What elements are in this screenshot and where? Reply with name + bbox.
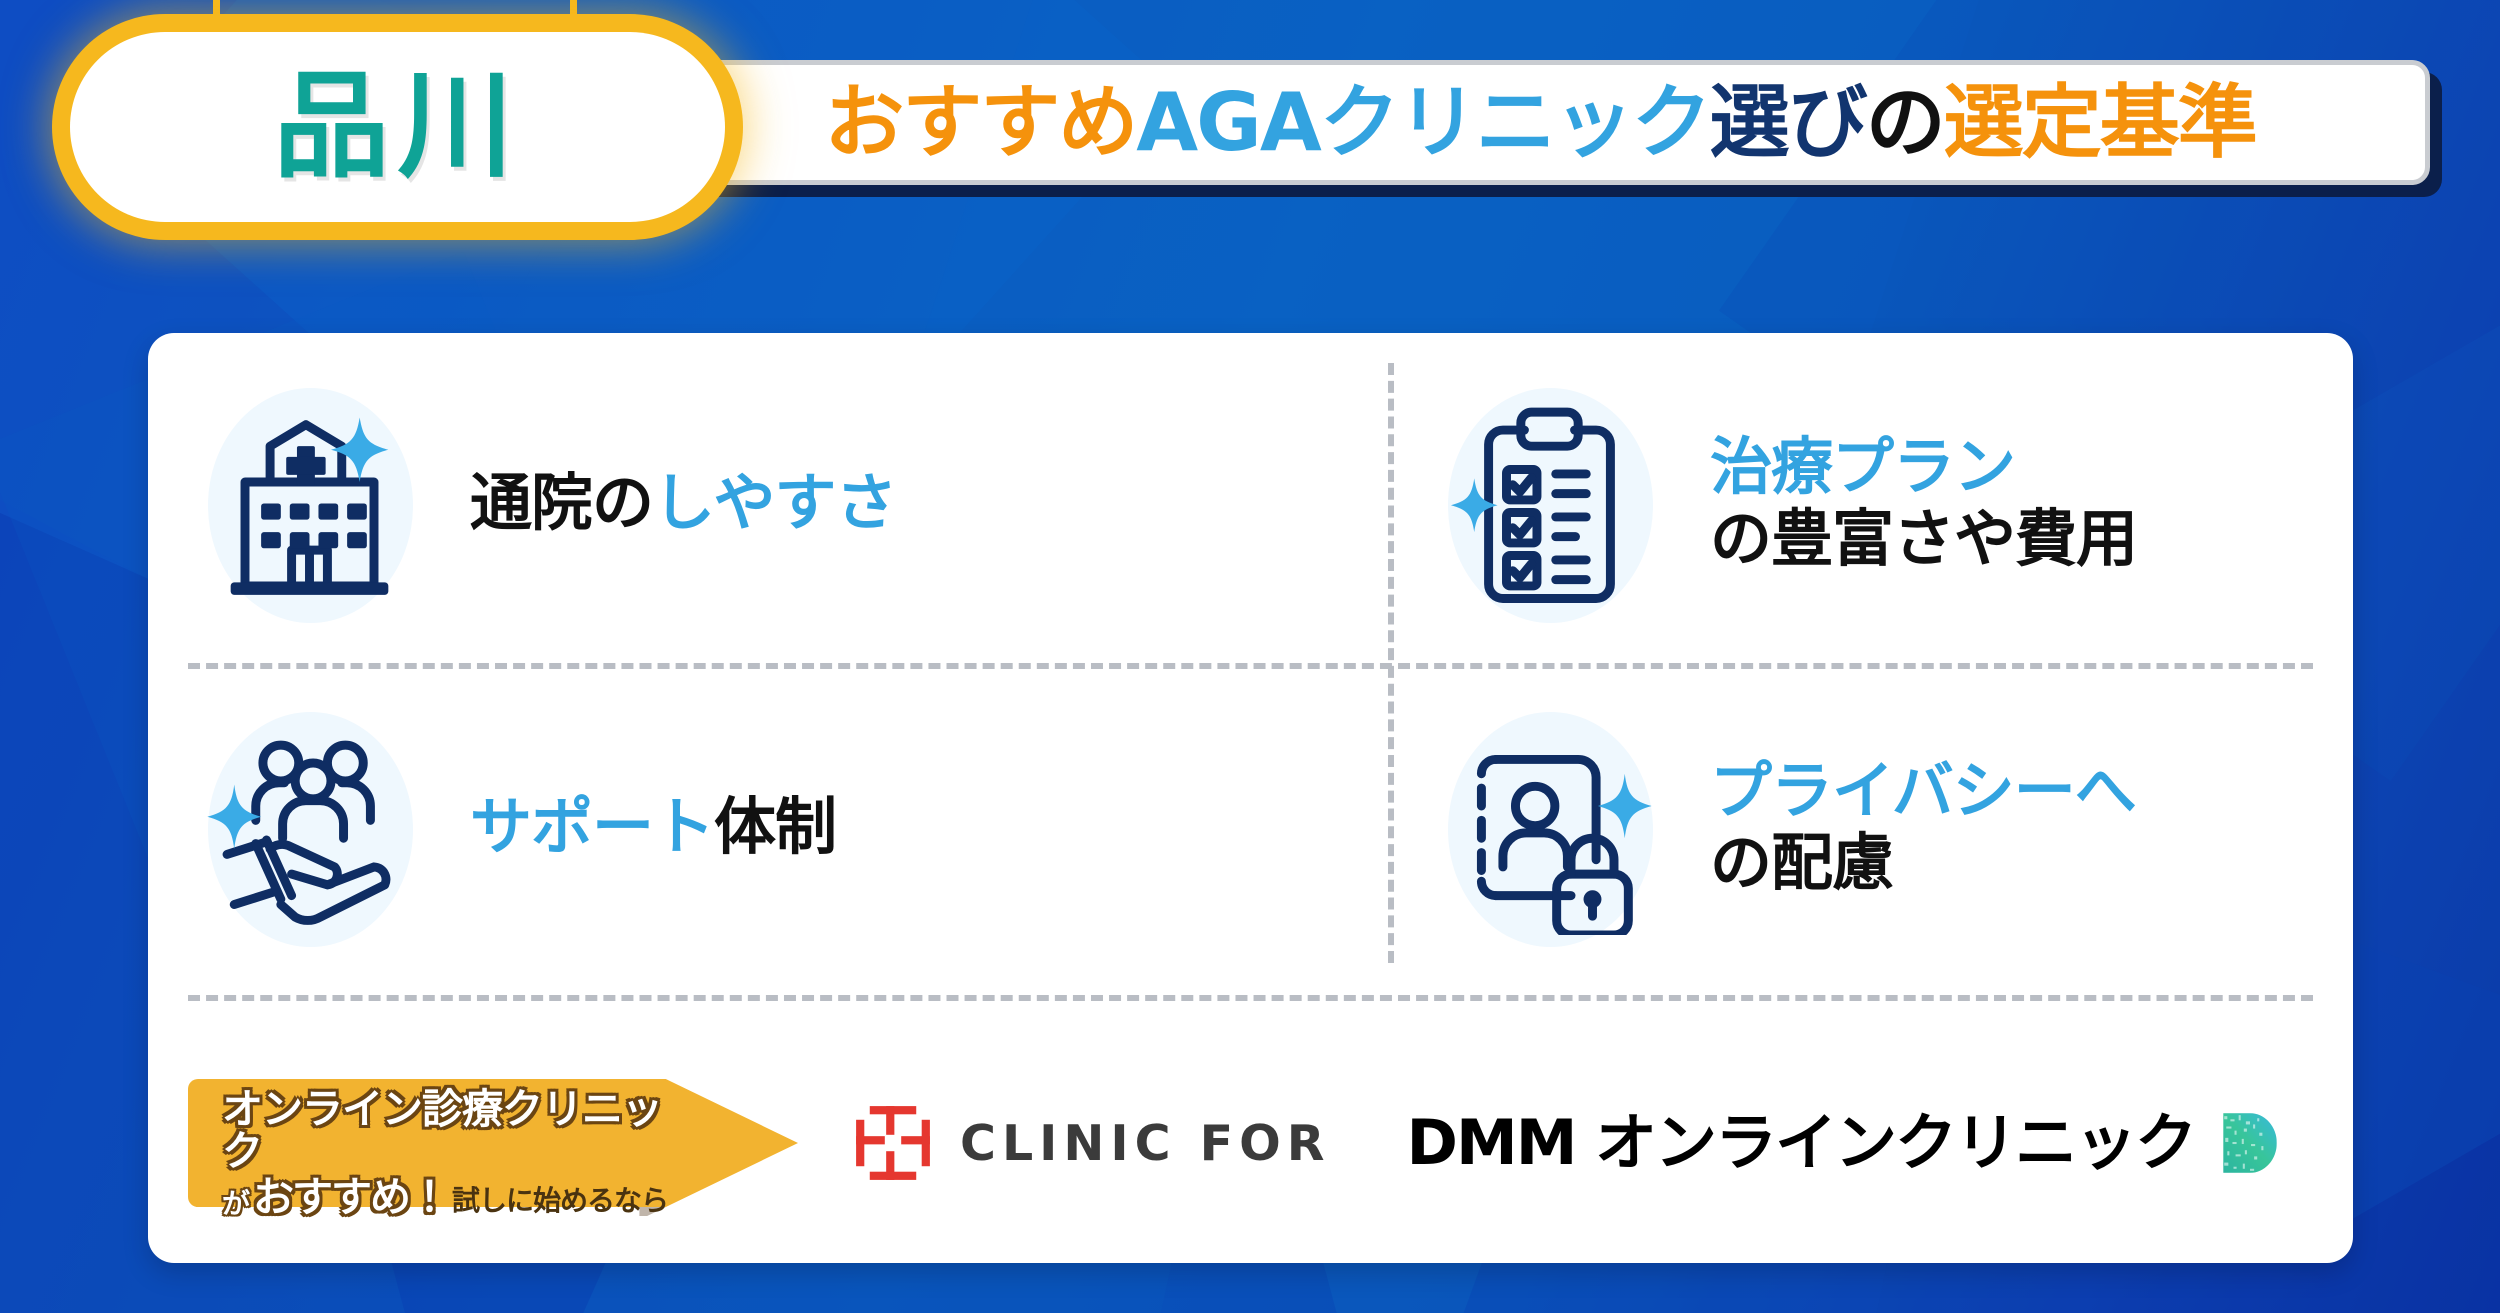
title-segment-kijun: 選定基準 <box>1944 76 2256 169</box>
logo-clinic-for[interactable]: CLINIC FOR <box>852 1102 1331 1184</box>
criteria-label-highlight: しやすさ <box>653 466 896 539</box>
logo-dmm-online-clinic[interactable]: DMM オンラインクリニック <box>1407 1110 2281 1176</box>
privacy-lock-icon <box>1442 720 1657 935</box>
red-cross-mark <box>852 1102 934 1184</box>
banner-line1: オンライン診療クリニック <box>222 1089 668 1173</box>
logo-clinic-for-wordmark: CLINIC FOR <box>960 1119 1331 1168</box>
criteria-item-privacy: プライバシーへの配慮 <box>1406 667 2500 987</box>
criteria-icon-wrap <box>184 378 434 628</box>
criteria-item-visit-ease: 通院のしやすさ <box>166 343 1376 663</box>
header: おすすめAGAクリニック選びの選定基準 品川 <box>0 0 2500 270</box>
clinic-logos: CLINIC FOR DMM オンラインクリニック <box>852 1102 2281 1184</box>
criteria-label-highlight: サポート <box>470 790 714 863</box>
criteria-item-support: サポート体制 <box>166 667 1376 987</box>
clipboard-checklist-icon <box>1442 396 1657 611</box>
logo-dmm-wordmark: DMM オンラインクリニック <box>1407 1112 2195 1174</box>
criteria-label-suffix: 体制 <box>714 790 836 863</box>
criteria-label-prefix: 通院の <box>470 466 653 539</box>
footer: オンライン診療クリニック が おすすめ！ 試しに始めるなら <box>148 1023 2353 1263</box>
banner-particle: が <box>222 1190 249 1219</box>
title-segment-osusume: おすすめ <box>824 76 1136 169</box>
criteria-icon-wrap <box>1424 702 1674 952</box>
title-segment-aga-clinic: AGAクリニック <box>1136 76 1710 169</box>
criteria-label-suffix: の配慮 <box>1710 826 1893 899</box>
criteria-label: 通院のしやすさ <box>470 467 896 539</box>
banner-subtext: 試しに始めるなら <box>452 1187 668 1219</box>
banner-text: オンライン診療クリニック が おすすめ！ 試しに始めるなら <box>222 1089 668 1218</box>
online-clinic-recommend-banner: オンライン診療クリニック が おすすめ！ 試しに始めるなら <box>188 1079 798 1207</box>
criteria-panel: 通院のしやすさ <box>148 333 2353 1263</box>
criteria-icon-wrap <box>184 702 434 952</box>
criteria-label: プライバシーへの配慮 <box>1710 755 2136 899</box>
criteria-label: 治療プランの豊富さや費用 <box>1710 431 2137 575</box>
criteria-item-treatment-plans: 治療プランの豊富さや費用 <box>1406 343 2500 663</box>
criteria-grid: 通院のしやすさ <box>148 333 2353 993</box>
criteria-label-suffix: の豊富さや費用 <box>1710 502 2137 575</box>
title-segment-erabi: 選び <box>1710 76 1866 169</box>
criteria-icon-wrap <box>1424 378 1674 628</box>
area-badge-label: 品川 <box>274 69 522 185</box>
area-badge-shinagawa: 品川 <box>70 32 725 222</box>
criteria-label-highlight: 治療プラン <box>1710 430 2015 503</box>
hand-holding-people-icon <box>202 720 417 935</box>
criteria-label-highlight: プライバシーへ <box>1710 754 2136 827</box>
divider-footer <box>188 995 2313 1001</box>
mosaic-d-mark <box>2219 1110 2281 1176</box>
criteria-label: サポート体制 <box>470 791 836 863</box>
title-segment-no: の <box>1866 76 1944 169</box>
banner-recommend: おすすめ！ <box>253 1177 448 1219</box>
banner-line2: が おすすめ！ 試しに始めるなら <box>222 1177 668 1219</box>
hospital-building-icon <box>202 396 417 611</box>
